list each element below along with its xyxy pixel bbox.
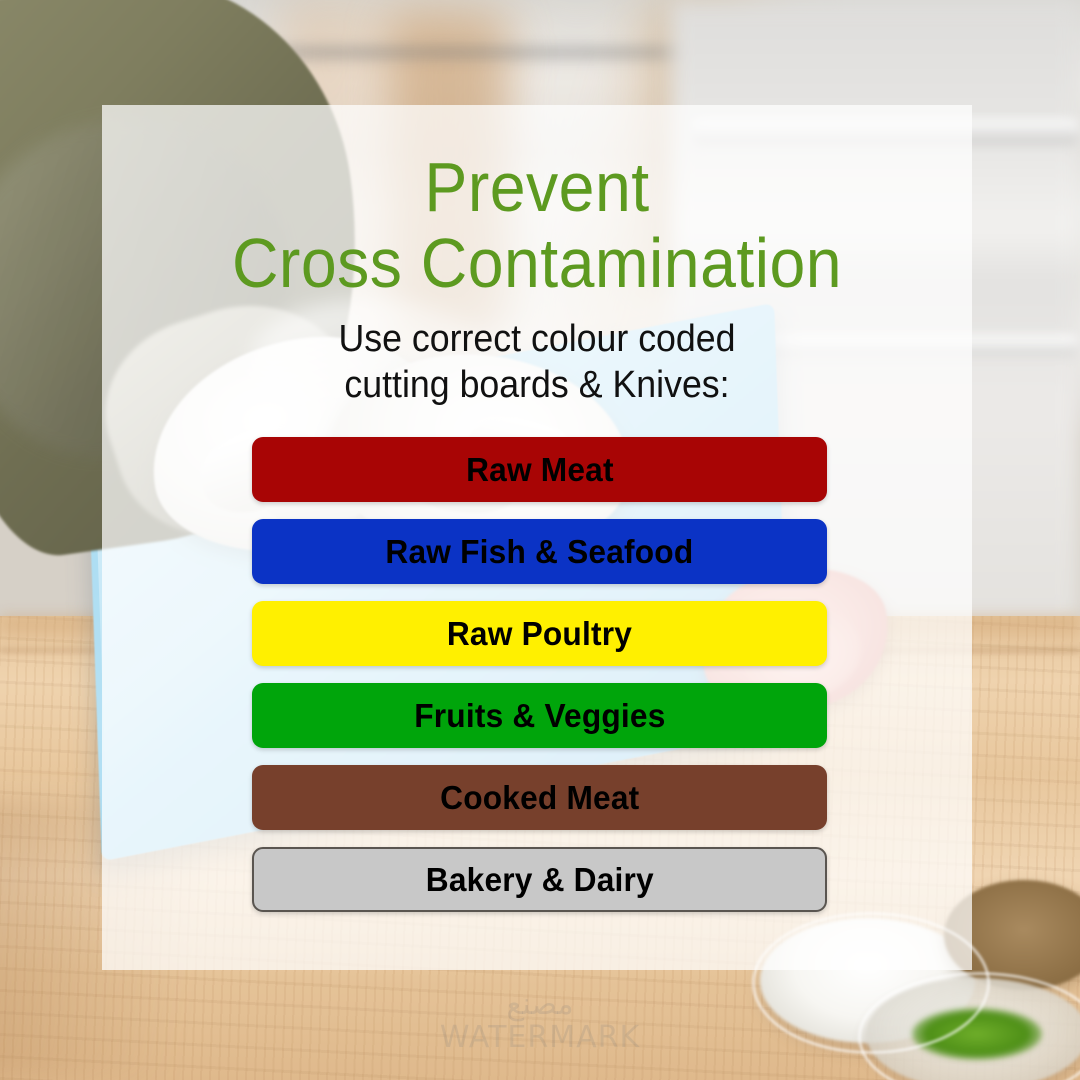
page-subtitle: Use correct colour coded cutting boards … <box>128 316 946 409</box>
colour-bar-label: Bakery & Dairy <box>425 861 653 899</box>
colour-bar-raw-poultry[interactable]: Raw Poultry <box>252 601 827 666</box>
colour-bar-label: Raw Poultry <box>447 615 632 653</box>
colour-bar-bakery-dairy[interactable]: Bakery & Dairy <box>252 847 827 912</box>
colour-bar-raw-fish-seafood[interactable]: Raw Fish & Seafood <box>252 519 827 584</box>
colour-code-list: Raw Meat Raw Fish & Seafood Raw Poultry … <box>252 437 827 912</box>
watermark: مصنع WATERMARK <box>0 988 1080 1054</box>
colour-bar-label: Fruits & Veggies <box>414 697 665 735</box>
colour-bar-raw-meat[interactable]: Raw Meat <box>252 437 827 502</box>
colour-bar-cooked-meat[interactable]: Cooked Meat <box>252 765 827 830</box>
colour-bar-fruits-veggies[interactable]: Fruits & Veggies <box>252 683 827 748</box>
page-title: Prevent Cross Contamination <box>137 150 937 301</box>
poster-canvas: Prevent Cross Contamination Use correct … <box>0 0 1080 1080</box>
colour-bar-label: Raw Meat <box>466 451 614 489</box>
colour-bar-label: Cooked Meat <box>440 779 639 817</box>
colour-bar-label: Raw Fish & Seafood <box>386 533 694 571</box>
